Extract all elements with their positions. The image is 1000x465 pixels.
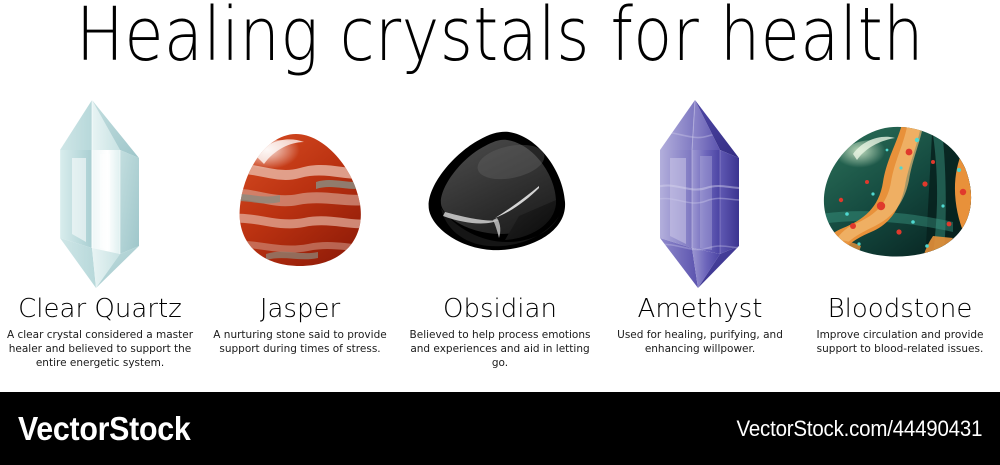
jasper-image [200,96,400,292]
crystal-card-jasper[interactable]: Jasper A nurturing stone said to provide… [200,96,400,386]
jasper-stone-icon [220,96,380,292]
crystal-name: Bloodstone [800,294,1000,324]
crystal-card-clear-quartz[interactable]: Clear Quartz A clear crystal considered … [0,96,200,386]
obsidian-image [400,96,600,292]
amethyst-crystal-icon [640,96,760,292]
page-title: Healing crystals for health [70,0,930,76]
crystal-name: Clear Quartz [0,294,200,324]
crystal-description: A nurturing stone said to provide suppor… [204,328,396,356]
crystal-description: Used for healing, purifying, and enhanci… [604,328,796,356]
infographic-page: Healing crystals for health [0,0,1000,465]
clear-quartz-crystal-icon [40,96,160,292]
crystal-description: Believed to help process emotions and ex… [404,328,596,370]
crystal-name: Obsidian [400,294,600,324]
amethyst-image [600,96,800,292]
crystal-card-row: Clear Quartz A clear crystal considered … [0,96,1000,386]
crystal-card-bloodstone[interactable]: Bloodstone Improve circulation and provi… [800,96,1000,386]
bloodstone-image [800,96,1000,292]
brand-logo-text: VectorStock [18,410,190,448]
crystal-card-obsidian[interactable]: Obsidian Believed to help process emotio… [400,96,600,386]
stock-url-text: VectorStock.com/44490431 [736,416,982,442]
crystal-name: Jasper [200,294,400,324]
obsidian-stone-icon [415,96,585,292]
crystal-name: Amethyst [600,294,800,324]
bloodstone-stone-icon [813,96,988,292]
crystal-card-amethyst[interactable]: Amethyst Used for healing, purifying, an… [600,96,800,386]
clear-quartz-image [0,96,200,292]
footer-bar: VectorStock VectorStock.com/44490431 [0,392,1000,465]
crystal-description: Improve circulation and provide support … [804,328,996,356]
crystal-description: A clear crystal considered a master heal… [4,328,196,370]
